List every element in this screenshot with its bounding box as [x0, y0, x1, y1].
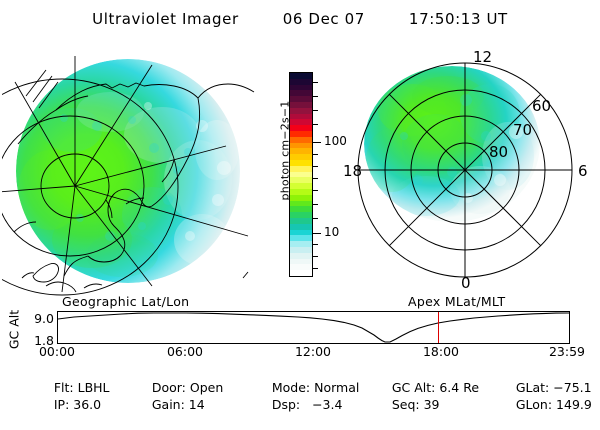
observation-date: 06 Dec 07	[283, 10, 365, 28]
altitude-curve	[58, 312, 569, 343]
mlt-label-0: 0	[461, 274, 471, 292]
altitude-xtick-2: 12:00	[295, 346, 331, 359]
status-gain: Gain: 14	[128, 379, 205, 430]
status-seq: Seq: 39	[368, 379, 440, 430]
altitude-xtick-4: 23:59	[549, 346, 585, 359]
altitude-xtick-1: 06:00	[167, 346, 203, 359]
altitude-timeline-plot: GC Alt 9.0 1.8 00:00 06:00 12:00 18:00 2…	[0, 306, 600, 356]
colorbar-gradient	[289, 72, 313, 277]
header-bar: Ultraviolet Imager 06 Dec 07 17:50:13 UT	[0, 4, 600, 34]
status-dsp: Dsp: −3.4	[248, 379, 342, 430]
altitude-xtick-0: 00:00	[39, 346, 75, 359]
mlat-label-80: 80	[489, 143, 508, 161]
mlt-label-12: 12	[473, 48, 492, 66]
apex-polar-panel: 12 18 6 0 60 70 80	[340, 40, 598, 298]
colorbar-tick-label-10: 10	[324, 226, 339, 238]
observation-time: 17:50:13 UT	[409, 10, 508, 28]
status-ip: IP: 36.0	[30, 379, 101, 430]
apex-polar-grid	[358, 63, 572, 277]
altitude-xtick-3: 18:00	[423, 346, 459, 359]
geographic-projection-panel	[2, 40, 264, 298]
instrument-title: Ultraviolet Imager	[92, 10, 239, 28]
current-time-marker	[438, 312, 439, 343]
mlat-label-60: 60	[532, 97, 551, 115]
altitude-plot-frame	[57, 311, 570, 344]
status-block: Flt: LBHL Door: Open Mode: Normal GC Alt…	[0, 362, 600, 398]
geographic-emission-field	[16, 59, 240, 283]
colorbar-group: photon cm−2s−1 100 10	[262, 56, 340, 296]
apex-polar-image: 12 18 6 0 60 70 80	[340, 40, 598, 298]
status-row: Flt: LBHL Door: Open Mode: Normal GC Alt…	[0, 362, 600, 379]
status-row: IP: 36.0 Gain: 14 Dsp: −3.4 Seq: 39 GLon…	[0, 379, 600, 396]
colorbar-band-34	[290, 270, 312, 276]
geographic-globe-image	[2, 40, 264, 298]
altitude-y-ticks: 9.0 1.8	[18, 311, 54, 344]
colorbar-ticks: 100 10	[313, 72, 339, 277]
mlt-label-6: 6	[578, 162, 588, 180]
mlt-label-18: 18	[343, 162, 362, 180]
mlat-label-70: 70	[513, 121, 532, 139]
altitude-ytick-max: 9.0	[34, 313, 54, 326]
status-glon: GLon: 149.9	[492, 379, 592, 430]
